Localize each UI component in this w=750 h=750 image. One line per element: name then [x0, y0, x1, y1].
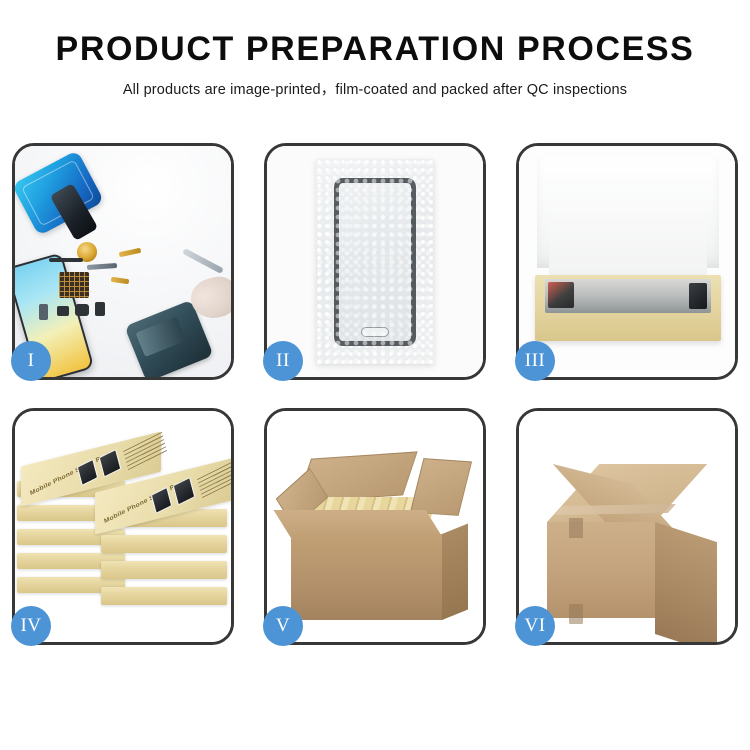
small-chip-part-icon — [57, 306, 69, 316]
gold-flex-part-icon — [111, 277, 130, 284]
box-spec-lines — [123, 431, 167, 470]
carton-flap-right — [410, 458, 472, 516]
sim-tray-part-icon — [39, 304, 48, 320]
box-edge — [101, 535, 227, 553]
wrapped-screen-in-box-icon — [545, 279, 711, 313]
steps-grid: I Mobile phone LCD screens and spare par… — [12, 143, 738, 683]
box-edge — [101, 587, 227, 605]
step-image-3 — [519, 146, 735, 377]
step-badge-6: VI — [515, 606, 555, 646]
product-preparation-infographic: PRODUCT PREPARATION PROCESS All products… — [0, 0, 750, 750]
step-panel-5: V Boxes packed into shipping carton — [264, 408, 486, 645]
bubble-wrapped-screen-illustration — [267, 146, 483, 377]
carton-front-face — [547, 522, 655, 618]
step-image-1 — [15, 146, 231, 377]
step-panel-4: Mobile Phone Spare Parts Mobile Phone Sp… — [12, 408, 234, 645]
speaker-part-icon — [95, 302, 105, 316]
chip-array-part-icon — [59, 272, 89, 298]
step-image-5 — [267, 411, 483, 642]
phones-and-parts-illustration — [15, 146, 231, 377]
step-image-6 — [519, 411, 735, 642]
gold-connector-part-icon — [119, 248, 142, 257]
step-badge-4: IV — [11, 606, 51, 646]
step-panel-6: VI Sealed shipping carton — [516, 408, 738, 645]
step-panel-3: III Wrapped screen placed in kraft box w… — [516, 143, 738, 380]
step-badge-3: III — [515, 341, 555, 381]
kraft-box-tray-icon — [535, 275, 721, 341]
antenna-strip-part-icon — [49, 258, 83, 262]
carton-front-face — [291, 534, 443, 620]
box-spec-lines — [197, 459, 231, 498]
open-kraft-box-illustration — [519, 146, 735, 377]
carton-tab — [569, 518, 583, 538]
bubble-wrap-sheet-icon — [316, 159, 434, 364]
sealed-carton-illustration — [519, 411, 735, 642]
step-badge-1: I — [11, 341, 51, 381]
page-title: PRODUCT PREPARATION PROCESS — [0, 0, 750, 68]
step-panel-2: II Screen wrapped in bubble film — [264, 143, 486, 380]
step-panel-1: I Mobile phone LCD screens and spare par… — [12, 143, 234, 380]
open-carton-illustration — [267, 411, 483, 642]
header: PRODUCT PREPARATION PROCESS All products… — [0, 0, 750, 99]
carton-side-face — [655, 522, 717, 642]
flex-cable-part-icon — [87, 263, 117, 270]
camera-module-part-icon — [75, 304, 89, 316]
carton-side-face — [442, 523, 468, 620]
box-stack-group: Mobile Phone Spare Parts Mobile Phone Sp… — [17, 435, 231, 625]
tweezers-icon — [182, 248, 224, 274]
box-edge — [101, 561, 227, 579]
step-badge-5: V — [263, 606, 303, 646]
carton-tab — [569, 604, 583, 624]
step-badge-2: II — [263, 341, 303, 381]
page-subtitle: All products are image-printed，film-coat… — [0, 68, 750, 99]
phone-screen-icon — [334, 178, 416, 346]
step-image-2 — [267, 146, 483, 377]
foam-backing-icon — [549, 198, 707, 282]
step-image-4: Mobile Phone Spare Parts Mobile Phone Sp… — [15, 411, 231, 642]
stacked-boxes-illustration: Mobile Phone Spare Parts Mobile Phone Sp… — [15, 411, 231, 642]
